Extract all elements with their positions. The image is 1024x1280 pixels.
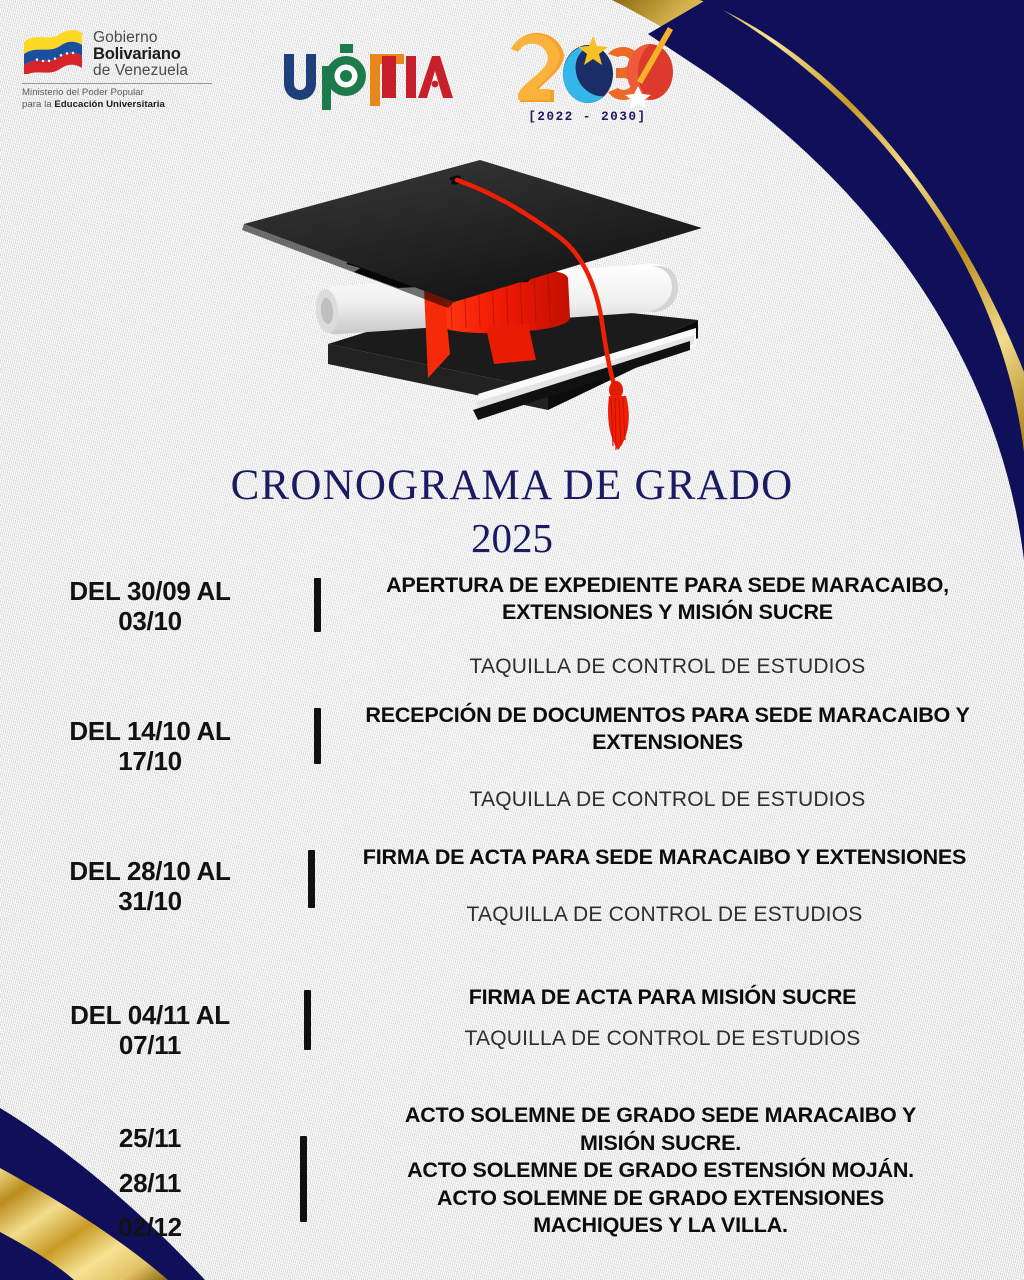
gov-line-3: de Venezuela [93, 63, 188, 79]
gov-line-2: Bolivariano [93, 46, 188, 63]
event-title: FIRMA DE ACTA PARA SEDE MARACAIBO Y EXTE… [339, 844, 990, 871]
schedule-body: APERTURA DE EXPEDIENTE PARA SEDE MARACAI… [345, 572, 1024, 681]
event-title-line: ACTO SOLEMNE DE GRADO ESTENSIÓN MOJÁN. [331, 1157, 990, 1185]
row-separator-bar [304, 990, 311, 1050]
schedule-body: FIRMA DE ACTA PARA MISIÓN SUCRE TAQUILLA… [335, 984, 1024, 1052]
date-line: 31/10 [0, 886, 300, 916]
poster-canvas: Gobierno Bolivariano de Venezuela Minist… [0, 0, 1024, 1280]
bicentenary-years: [2022 - 2030] [500, 110, 675, 124]
date-line: DEL 14/10 AL [0, 716, 300, 746]
schedule-row: DEL 28/10 AL 31/10 FIRMA DE ACTA PARA SE… [0, 844, 1024, 984]
schedule-body: ACTO SOLEMNE DE GRADO SEDE MARACAIBO Y M… [331, 1102, 1024, 1240]
gov-line-1: Gobierno [93, 30, 188, 46]
schedule-list: DEL 30/09 AL 03/10 APERTURA DE EXPEDIENT… [0, 572, 1024, 1262]
schedule-row: 25/11 28/11 02/12 ACTO SOLEMNE DE GRADO … [0, 1102, 1024, 1262]
date-line: DEL 30/09 AL [0, 576, 300, 606]
bicentenary-2030-icon [500, 26, 675, 121]
uptma-logo-icon [278, 36, 453, 116]
schedule-row: DEL 14/10 AL 17/10 RECEPCIÓN DE DOCUMENT… [0, 702, 1024, 844]
event-location: TAQUILLA DE CONTROL DE ESTUDIOS [335, 1025, 990, 1052]
title-main: CRONOGRAMA DE GRADO [0, 462, 1024, 509]
header-logos: Gobierno Bolivariano de Venezuela Minist… [0, 0, 1024, 140]
date-line: 25/11 [0, 1116, 300, 1161]
date-line: 28/11 [0, 1161, 300, 1206]
event-location: TAQUILLA DE CONTROL DE ESTUDIOS [345, 653, 990, 680]
uptma-logo [278, 36, 453, 116]
event-location: TAQUILLA DE CONTROL DE ESTUDIOS [345, 786, 990, 813]
ministry-bold: Educación Universitaria [54, 99, 164, 110]
date-line: 17/10 [0, 746, 300, 776]
event-title: FIRMA DE ACTA PARA MISIÓN SUCRE [335, 984, 990, 1011]
event-location: TAQUILLA DE CONTROL DE ESTUDIOS [339, 901, 990, 928]
venezuela-flag-icon [22, 28, 84, 74]
event-title-line: ACTO SOLEMNE DE GRADO EXTENSIONES [331, 1185, 990, 1213]
row-separator-bar [314, 578, 321, 632]
row-separator-bar [300, 1136, 307, 1222]
schedule-body: RECEPCIÓN DE DOCUMENTOS PARA SEDE MARACA… [345, 702, 1024, 814]
event-title-line: MISIÓN SUCRE. [331, 1130, 990, 1158]
event-title: RECEPCIÓN DE DOCUMENTOS PARA SEDE MARACA… [345, 702, 990, 755]
schedule-dates: 25/11 28/11 02/12 [0, 1102, 300, 1250]
graduation-cap-illustration [228, 132, 718, 462]
schedule-dates: DEL 30/09 AL 03/10 [0, 572, 300, 636]
ministry-line-2: para la Educación Universitaria [22, 99, 212, 111]
date-line: DEL 04/11 AL [0, 1000, 300, 1030]
schedule-body: FIRMA DE ACTA PARA SEDE MARACAIBO Y EXTE… [339, 844, 1024, 928]
date-line: DEL 28/10 AL [0, 856, 300, 886]
gov-logo: Gobierno Bolivariano de Venezuela Minist… [22, 28, 212, 111]
event-title-line: MACHIQUES Y LA VILLA. [331, 1212, 990, 1240]
schedule-dates: DEL 04/11 AL 07/11 [0, 984, 300, 1060]
date-line: 03/10 [0, 606, 300, 636]
ministry-text: Ministerio del Poder Popular para la Edu… [22, 87, 212, 111]
bicentenary-logo: [2022 - 2030] [500, 26, 675, 131]
schedule-dates: DEL 14/10 AL 17/10 [0, 702, 300, 776]
event-title: APERTURA DE EXPEDIENTE PARA SEDE MARACAI… [345, 572, 990, 625]
date-line: 07/11 [0, 1030, 300, 1060]
schedule-dates: DEL 28/10 AL 31/10 [0, 844, 300, 916]
row-separator-bar [314, 708, 321, 764]
row-separator-bar [308, 850, 315, 908]
ministry-line-1: Ministerio del Poder Popular [22, 87, 212, 99]
ministry-prefix: para la [22, 99, 54, 110]
schedule-row: DEL 30/09 AL 03/10 APERTURA DE EXPEDIENT… [0, 572, 1024, 702]
gov-divider [22, 83, 212, 84]
schedule-row: DEL 04/11 AL 07/11 FIRMA DE ACTA PARA MI… [0, 984, 1024, 1102]
date-line: 02/12 [0, 1205, 300, 1250]
event-title-line: ACTO SOLEMNE DE GRADO SEDE MARACAIBO Y [331, 1102, 990, 1130]
event-title: ACTO SOLEMNE DE GRADO SEDE MARACAIBO Y M… [331, 1102, 990, 1240]
title-year: 2025 [0, 511, 1024, 566]
poster-title: CRONOGRAMA DE GRADO 2025 [0, 462, 1024, 567]
